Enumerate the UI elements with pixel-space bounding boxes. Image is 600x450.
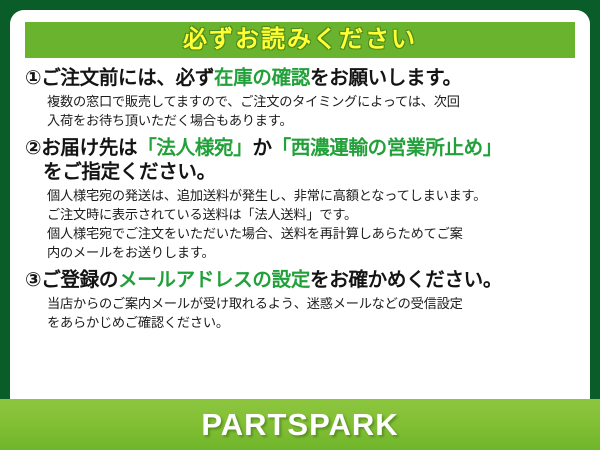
notice-item-3-body: 当店からのご案内メールが受け取れるよう、迷惑メールなどの受信設定 をあらかじめご… [25,295,575,332]
notice-item-3-body-line-2: をあらかじめご確認ください。 [47,314,575,333]
notice-item-1-body-line-2: 入荷をお待ち頂いただく場合もあります。 [47,112,575,131]
notice-panel: 必ずお読みください ①ご注文前には、必ず在庫の確認をお願いします。 複数の窓口で… [10,10,590,400]
notice-item-2-heading-line2: をご指定ください。 [25,161,575,185]
notice-item-1-body: 複数の窓口で販売してますので、ご注文のタイミングによっては、次回 入荷をお待ち頂… [25,93,575,130]
notice-item-2-body: 個人様宅宛の発送は、追加送料が発生し、非常に高額となってしまいます。 ご注文時に… [25,187,575,262]
notice-item-2-body-line-1: 個人様宅宛の発送は、追加送料が発生し、非常に高額となってしまいます。 [47,187,575,206]
notice-item-2-marker: ② [25,137,41,159]
brand-footer: PARTSPARK [0,399,600,450]
notice-card: 必ずお読みください ①ご注文前には、必ず在庫の確認をお願いします。 複数の窓口で… [0,0,600,450]
notice-item-1-heading-emphasis: 在庫の確認 [214,67,310,89]
notice-item-1-heading: ①ご注文前には、必ず在庫の確認をお願いします。 [25,67,575,91]
notice-item-3-heading-emphasis: メールアドレスの設定 [118,269,310,291]
notice-item-1-marker: ① [25,67,41,89]
brand-logo: PARTSPARK [201,409,398,440]
notice-item-3-heading-pre: ご登録の [41,269,118,291]
notice-item-2-heading-emphasis-1: 「法人様宛」 [137,137,252,159]
notice-item-3-heading-post: をお確かめください。 [310,269,502,291]
notice-item-2-body-line-3: 個人様宅宛でご注文をいただいた場合、送料を再計算しあらためてご案 [47,225,575,244]
notice-item-2-heading: ②お届け先は「法人様宛」か「西濃運輸の営業所止め」 をご指定ください。 [25,137,575,185]
notice-item-1: ①ご注文前には、必ず在庫の確認をお願いします。 複数の窓口で販売してますので、ご… [25,67,575,130]
notice-item-2-body-line-2: ご注文時に表示されている送料は「法人送料」です。 [47,206,575,225]
notice-item-3-body-line-1: 当店からのご案内メールが受け取れるよう、迷惑メールなどの受信設定 [47,295,575,314]
notice-item-1-body-line-1: 複数の窓口で販売してますので、ご注文のタイミングによっては、次回 [47,93,575,112]
notice-item-2: ②お届け先は「法人様宛」か「西濃運輸の営業所止め」 をご指定ください。 個人様宅… [25,137,575,262]
notice-item-3-heading: ③ご登録のメールアドレスの設定をお確かめください。 [25,269,575,293]
notice-item-1-heading-post: をお願いします。 [310,67,462,89]
notice-title: 必ずお読みください [183,28,417,52]
notice-item-2-heading-emphasis-2: 「西濃運輸の営業所止め」 [272,137,502,159]
notice-item-3: ③ご登録のメールアドレスの設定をお確かめください。 当店からのご案内メールが受け… [25,269,575,332]
notice-item-2-heading-mid: か [252,137,271,159]
notice-item-2-body-line-4: 内のメールをお送りします。 [47,244,575,263]
notice-item-3-marker: ③ [25,269,41,291]
notice-item-1-heading-pre: ご注文前には、必ず [41,67,214,89]
notice-item-2-heading-pre: お届け先は [41,137,137,159]
notice-title-band: 必ずお読みください [25,22,575,58]
